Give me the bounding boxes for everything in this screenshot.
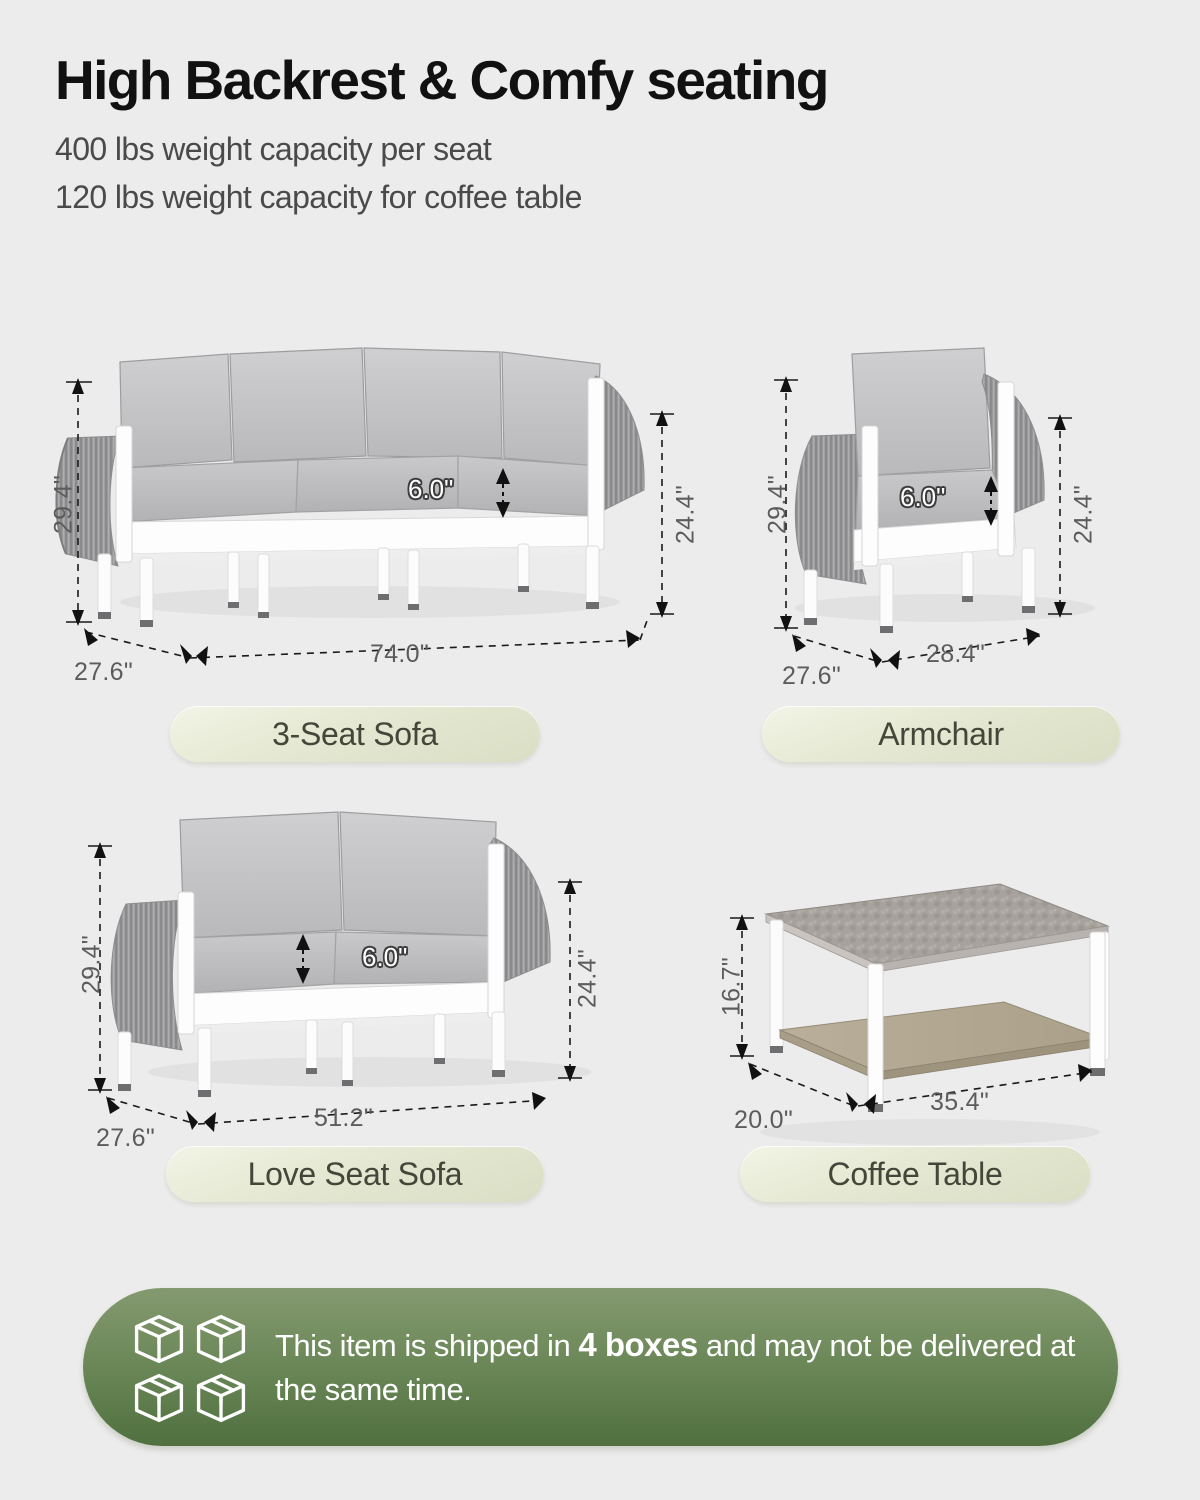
- sofa-illustration: [40, 340, 700, 740]
- label-pill-loveseat: Love Seat Sofa: [166, 1146, 544, 1202]
- shipping-box-count: 4 boxes: [578, 1326, 697, 1363]
- loveseat-cushion-arrow: [288, 932, 318, 986]
- sofa-cushion-callout: 6.0": [408, 474, 453, 505]
- header-block: High Backrest & Comfy seating 400 lbs we…: [55, 52, 1155, 221]
- armchair-dim-seat-height: 24.4": [1070, 475, 1099, 555]
- box-icon: [193, 1311, 249, 1367]
- sofa-dim-seat-height: 24.4": [672, 475, 701, 555]
- pill-text-armchair: Armchair: [878, 716, 1004, 753]
- armchair-dim-width: 28.4": [926, 640, 985, 669]
- product-sofa: 29.4" 24.4" 27.6" 74.0" 6.0": [40, 340, 700, 740]
- loveseat-cushion-callout: 6.0": [362, 942, 407, 973]
- capacity-seat-text: 400 lbs weight capacity per seat: [55, 126, 1155, 172]
- shipping-banner-text: This item is shipped in 4 boxes and may …: [275, 1322, 1118, 1413]
- capacity-table-text: 120 lbs weight capacity for coffee table: [55, 174, 1155, 220]
- loveseat-dim-depth: 27.6": [96, 1124, 155, 1153]
- box-icon: [131, 1311, 187, 1367]
- armchair-cushion-callout: 6.0": [900, 482, 945, 513]
- shipping-boxes-icon-group: [131, 1311, 249, 1423]
- armchair-dim-height: 29.4": [764, 465, 793, 545]
- loveseat-dim-seat-height: 24.4": [574, 939, 603, 1019]
- table-dim-height: 16.7": [718, 947, 747, 1027]
- sofa-dim-width: 74.0": [370, 640, 429, 669]
- pill-text-loveseat: Love Seat Sofa: [248, 1156, 463, 1193]
- loveseat-dim-width: 51.2": [314, 1104, 373, 1133]
- table-dim-depth: 20.0": [734, 1106, 793, 1135]
- sofa-dim-height: 29.4": [50, 465, 79, 545]
- loveseat-dim-height: 29.4": [78, 925, 107, 1005]
- page-title: High Backrest & Comfy seating: [55, 52, 1155, 110]
- shipping-text-before: This item is shipped in: [275, 1328, 578, 1363]
- box-icon: [193, 1370, 249, 1426]
- sofa-cushion-arrow: [488, 466, 518, 520]
- product-armchair: 29.4" 24.4" 27.6" 28.4" 6.0": [740, 340, 1160, 740]
- box-icon: [131, 1370, 187, 1426]
- table-dim-width: 35.4": [930, 1088, 989, 1117]
- sofa-dim-depth: 27.6": [74, 658, 133, 687]
- label-pill-sofa: 3-Seat Sofa: [170, 706, 540, 762]
- armchair-cushion-arrow: [976, 474, 1006, 528]
- pill-text-sofa: 3-Seat Sofa: [272, 716, 438, 753]
- pill-text-coffee-table: Coffee Table: [828, 1156, 1003, 1193]
- product-loveseat: 29.4" 24.4" 27.6" 51.2" 6.0": [70, 800, 670, 1200]
- shipping-banner: This item is shipped in 4 boxes and may …: [83, 1288, 1118, 1446]
- label-pill-armchair: Armchair: [762, 706, 1120, 762]
- label-pill-coffee-table: Coffee Table: [740, 1146, 1090, 1202]
- armchair-dim-depth: 27.6": [782, 662, 841, 691]
